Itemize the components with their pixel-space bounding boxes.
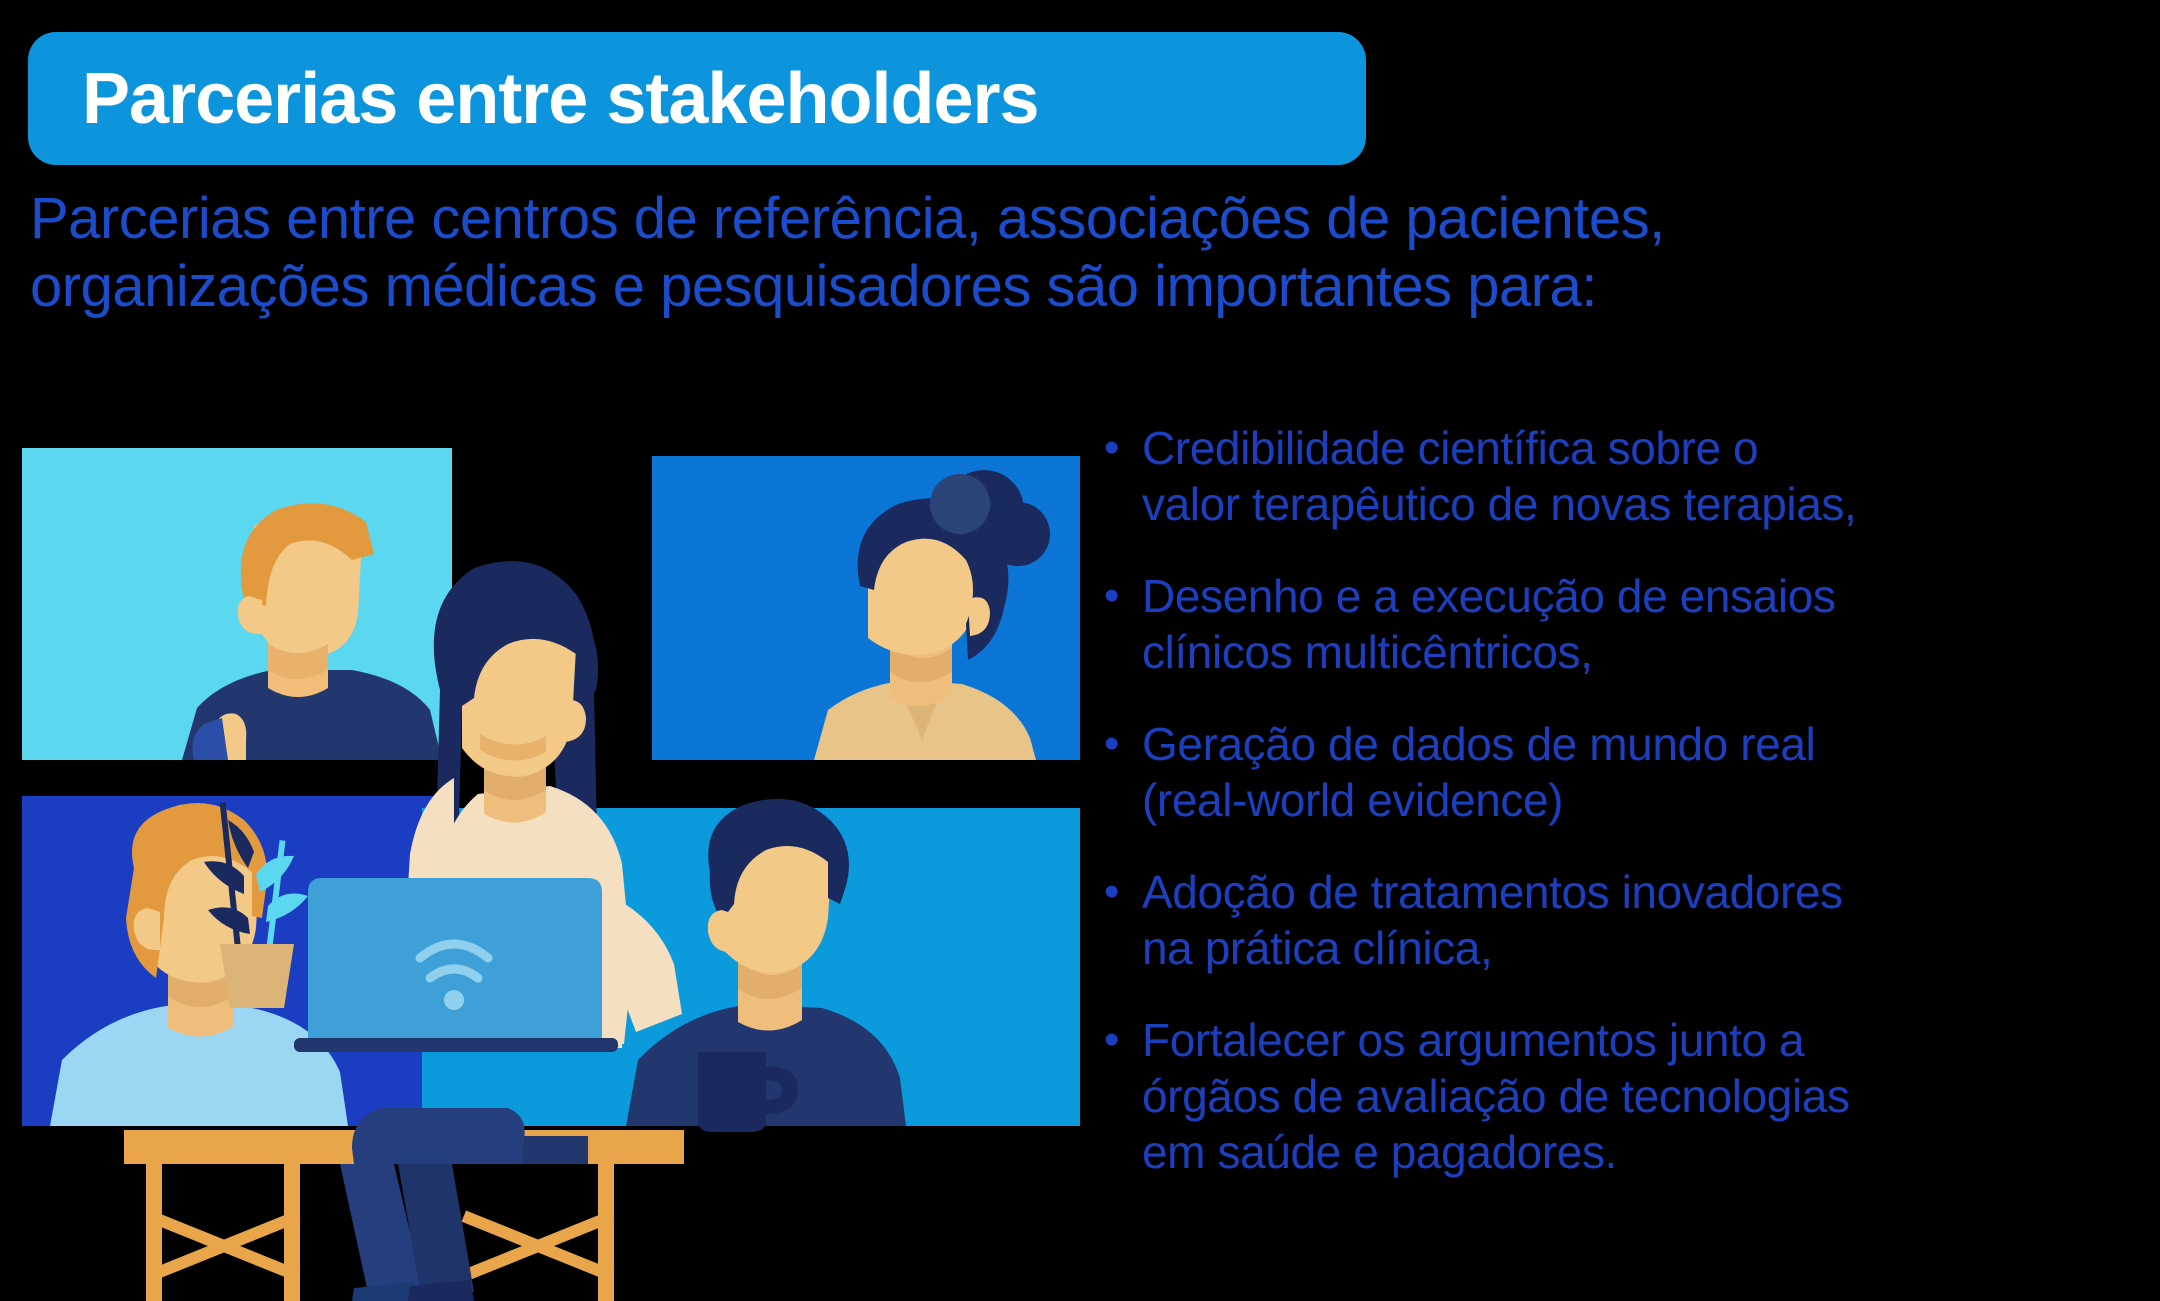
- video-call-meeting-illustration: [22, 448, 1097, 1301]
- benefits-list: • Credibilidade científica sobre o valor…: [1090, 420, 2160, 1216]
- slide-root: Parcerias entre stakeholders Parcerias e…: [0, 0, 2160, 1301]
- list-item-line: Fortalecer os argumentos junto a: [1142, 1012, 1850, 1068]
- list-item-line: clínicos multicêntricos,: [1142, 624, 1835, 680]
- subtitle-line-1: Parcerias entre centros de referência, a…: [30, 185, 2130, 253]
- bullet-marker-icon: •: [1090, 568, 1142, 624]
- list-item-text: Geração de dados de mundo real (real-wor…: [1142, 716, 1815, 828]
- subtitle-line-2: organizações médicas e pesquisadores são…: [30, 253, 2130, 321]
- bullet-marker-icon: •: [1090, 1012, 1142, 1068]
- list-item-text: Adoção de tratamentos inovadores na prát…: [1142, 864, 1843, 976]
- list-item-text: Credibilidade científica sobre o valor t…: [1142, 420, 1856, 532]
- list-item: • Adoção de tratamentos inovadores na pr…: [1090, 864, 2160, 976]
- list-item-line: Adoção de tratamentos inovadores: [1142, 864, 1843, 920]
- list-item: • Credibilidade científica sobre o valor…: [1090, 420, 2160, 532]
- bullet-marker-icon: •: [1090, 864, 1142, 920]
- panel-top-left: [22, 448, 452, 760]
- list-item-text: Desenho e a execução de ensaios clínicos…: [1142, 568, 1835, 680]
- laptop-device: [294, 878, 618, 1052]
- list-item-line: em saúde e pagadores.: [1142, 1124, 1850, 1180]
- bullet-marker-icon: •: [1090, 716, 1142, 772]
- title-badge: Parcerias entre stakeholders: [28, 32, 1366, 165]
- panel-top-right: [652, 456, 1080, 760]
- list-item-text: Fortalecer os argumentos junto a órgãos …: [1142, 1012, 1850, 1180]
- list-item-line: Geração de dados de mundo real: [1142, 716, 1815, 772]
- seated-legs: [340, 1108, 588, 1301]
- list-item: • Fortalecer os argumentos junto a órgão…: [1090, 1012, 2160, 1180]
- list-item-line: órgãos de avaliação de tecnologias: [1142, 1068, 1850, 1124]
- page-title: Parcerias entre stakeholders: [82, 63, 1039, 135]
- list-item-line: Desenho e a execução de ensaios: [1142, 568, 1835, 624]
- list-item-line: (real-world evidence): [1142, 772, 1815, 828]
- list-item: • Geração de dados de mundo real (real-w…: [1090, 716, 2160, 828]
- list-item-line: na prática clínica,: [1142, 920, 1843, 976]
- list-item-line: Credibilidade científica sobre o: [1142, 420, 1856, 476]
- bullet-marker-icon: •: [1090, 420, 1142, 476]
- list-item: • Desenho e a execução de ensaios clínic…: [1090, 568, 2160, 680]
- subtitle: Parcerias entre centros de referência, a…: [30, 185, 2130, 322]
- list-item-line: valor terapêutico de novas terapias,: [1142, 476, 1856, 532]
